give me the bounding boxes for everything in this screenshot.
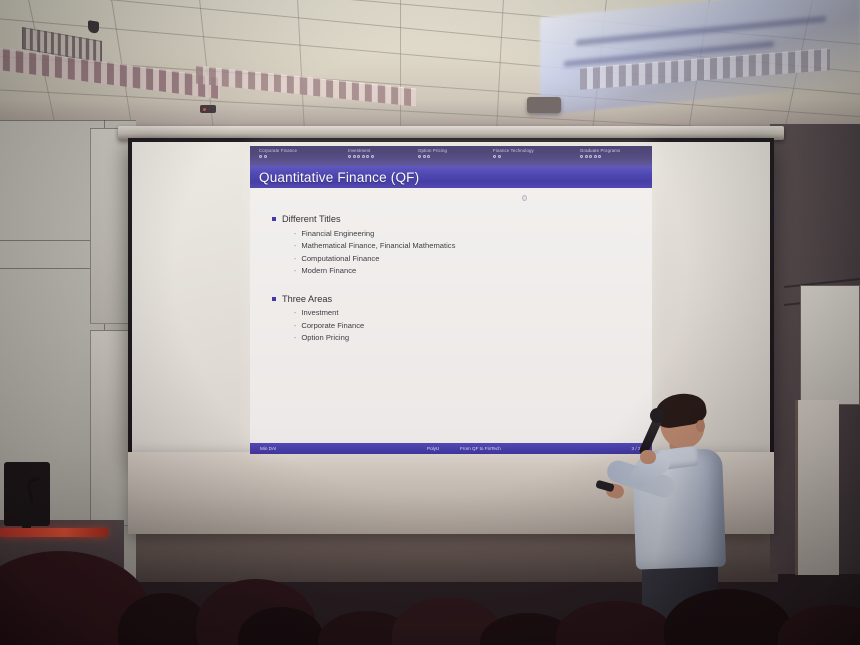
audience-head <box>778 605 860 645</box>
sub-bullet-item: - Investment <box>272 307 652 320</box>
presentation-slide: Corporate Finance Investment Option Pric… <box>250 146 652 454</box>
sub-bullet-label: Computational Finance <box>301 253 379 266</box>
slide-footer: Min DAI PolyU From QF to FinTech 3 / 30 <box>250 443 652 454</box>
square-bullet-icon <box>272 297 276 301</box>
lecture-hall-scene: Corporate Finance Investment Option Pric… <box>0 0 860 645</box>
audience-head <box>664 589 792 645</box>
sub-bullet-item: - Mathematical Finance, Financial Mathem… <box>272 240 652 253</box>
footer-talk: From QF to FinTech <box>460 446 501 451</box>
sub-bullet-item: - Option Pricing <box>272 332 652 345</box>
ceiling-speaker <box>200 105 216 113</box>
nav-label: Option Pricing <box>418 148 447 153</box>
audience-head <box>556 601 674 645</box>
sub-bullet-label: Financial Engineering <box>301 228 374 241</box>
ceiling-sensor <box>88 20 99 34</box>
sub-bullet-label: Option Pricing <box>301 332 349 345</box>
dash-bullet-icon: - <box>294 308 296 320</box>
ceiling-projector <box>527 97 561 113</box>
ceiling <box>0 0 860 132</box>
dash-bullet-icon: - <box>294 321 296 333</box>
bullet-heading: Three Areas <box>272 294 652 304</box>
bullet-heading-label: Different Titles <box>282 214 341 224</box>
dash-bullet-icon: - <box>294 254 296 266</box>
sub-bullet-label: Mathematical Finance, Financial Mathemat… <box>301 240 455 253</box>
slide-block-three-areas: Three Areas - Investment - Corporate Fin… <box>272 294 652 345</box>
sub-bullet-item: - Financial Engineering <box>272 228 652 241</box>
slide-title: Quantitative Finance (QF) <box>250 166 652 188</box>
dash-bullet-icon: - <box>294 266 296 278</box>
nav-item-finance-technology[interactable]: Finance Technology <box>493 148 534 158</box>
square-bullet-icon <box>272 217 276 221</box>
sub-bullet-label: Investment <box>301 307 338 320</box>
speaker-led <box>203 108 206 111</box>
nav-dots <box>493 155 534 158</box>
sub-bullet-item: - Computational Finance <box>272 253 652 266</box>
sub-bullet-item: - Corporate Finance <box>272 320 652 333</box>
slide-nav-bar: Corporate Finance Investment Option Pric… <box>250 146 652 166</box>
slide-body: Different Titles - Financial Engineering… <box>250 188 652 439</box>
nav-dots <box>348 155 374 158</box>
nav-item-option-pricing[interactable]: Option Pricing <box>418 148 447 158</box>
bullet-heading-label: Three Areas <box>282 294 332 304</box>
nav-label: Corporate Finance <box>259 148 297 153</box>
nav-label: Finance Technology <box>493 148 534 153</box>
cursor-icon <box>522 195 527 201</box>
nav-item-corporate-finance[interactable]: Corporate Finance <box>259 148 297 158</box>
sub-bullet-label: Modern Finance <box>301 265 356 278</box>
dash-bullet-icon: - <box>294 241 296 253</box>
wall-panel <box>90 128 132 324</box>
nav-label: Investment <box>348 148 374 153</box>
nav-item-graduate-programs[interactable]: Graduate Programs <box>580 148 620 158</box>
dash-bullet-icon: - <box>294 229 296 241</box>
audience <box>0 535 860 645</box>
sub-bullet-label: Corporate Finance <box>301 320 364 333</box>
dash-bullet-icon: - <box>294 333 296 345</box>
slide-block-different-titles: Different Titles - Financial Engineering… <box>272 214 652 278</box>
nav-label: Graduate Programs <box>580 148 620 153</box>
bullet-heading: Different Titles <box>272 214 652 224</box>
nav-dots <box>259 155 297 158</box>
nav-item-investment[interactable]: Investment <box>348 148 374 158</box>
footer-org: PolyU <box>427 446 439 451</box>
nav-dots <box>580 155 620 158</box>
wall-panel <box>90 330 132 526</box>
sub-bullet-item: - Modern Finance <box>272 265 652 278</box>
presenter-ear <box>696 420 705 432</box>
monitor-stand <box>22 500 31 528</box>
footer-author: Min DAI <box>260 446 276 451</box>
wall-whiteboard <box>800 285 860 405</box>
nav-dots <box>418 155 447 158</box>
presenter-mic-hand <box>640 450 656 464</box>
